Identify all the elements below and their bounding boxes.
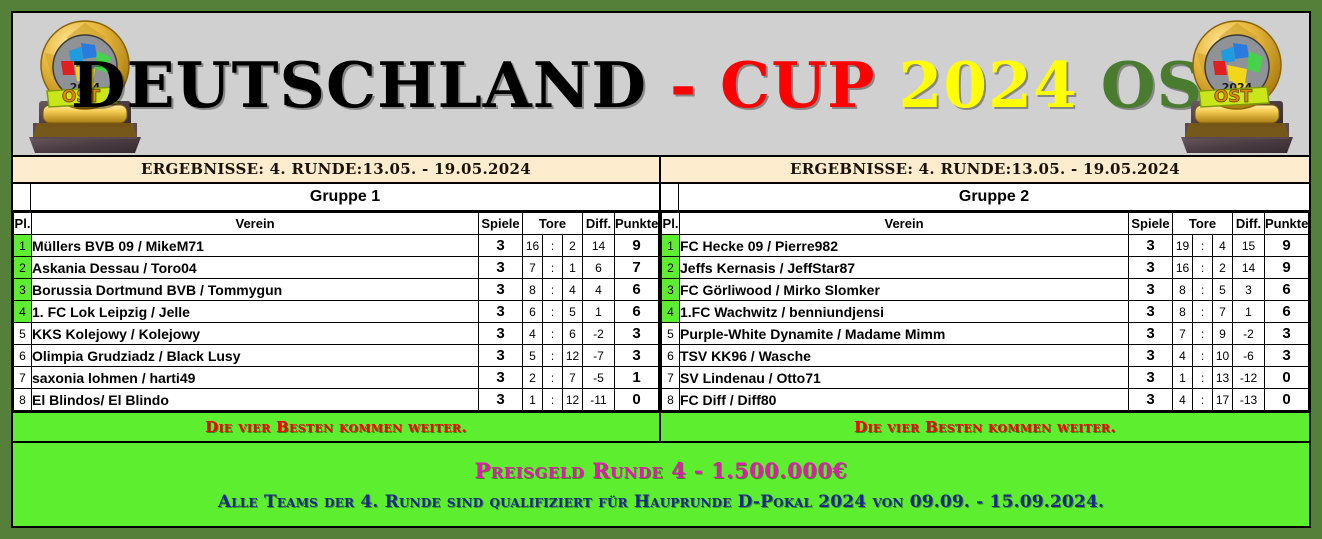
cell-place: 5 bbox=[14, 323, 32, 345]
cell-goals-for: 4 bbox=[1173, 345, 1193, 367]
cell-goals-for: 7 bbox=[1173, 323, 1193, 345]
cell-goals-against: 7 bbox=[1213, 301, 1233, 323]
cell-goals-for: 8 bbox=[523, 279, 543, 301]
cell-goals-separator: : bbox=[1193, 279, 1213, 301]
header-pl: Pl. bbox=[14, 213, 32, 235]
cell-spiele: 3 bbox=[1129, 367, 1173, 389]
cell-diff: -5 bbox=[583, 367, 615, 389]
cell-goals-for: 4 bbox=[523, 323, 543, 345]
cell-punkte: 6 bbox=[1265, 301, 1309, 323]
cell-spiele: 3 bbox=[1129, 345, 1173, 367]
table-row: 2Askania Dessau / Toro0437:167 bbox=[14, 257, 659, 279]
cell-verein: Jeffs Kernasis / JeffStar87 bbox=[680, 257, 1129, 279]
cell-goals-against: 6 bbox=[563, 323, 583, 345]
cell-goals-against: 5 bbox=[1213, 279, 1233, 301]
cell-place: 4 bbox=[14, 301, 32, 323]
header-tore: Tore bbox=[1173, 213, 1233, 235]
cell-goals-for: 19 bbox=[1173, 235, 1193, 257]
table-row: 3Borussia Dortmund BVB / Tommygun38:446 bbox=[14, 279, 659, 301]
cell-place: 5 bbox=[662, 323, 680, 345]
cell-diff: 14 bbox=[1233, 257, 1265, 279]
cell-goals-for: 5 bbox=[523, 345, 543, 367]
cell-place: 6 bbox=[14, 345, 32, 367]
table-row: 8FC Diff / Diff8034:17-130 bbox=[662, 389, 1309, 411]
table-row: 1Müllers BVB 09 / MikeM71316:2149 bbox=[14, 235, 659, 257]
cell-goals-separator: : bbox=[543, 389, 563, 411]
page-frame: 2024 OST DEUTSCHLAND - CUP 2024 OST bbox=[11, 11, 1311, 528]
cell-goals-against: 12 bbox=[563, 389, 583, 411]
cell-goals-separator: : bbox=[1193, 367, 1213, 389]
cell-goals-for: 8 bbox=[1173, 301, 1193, 323]
cell-goals-for: 4 bbox=[1173, 389, 1193, 411]
cell-place: 3 bbox=[14, 279, 32, 301]
cell-diff: -11 bbox=[583, 389, 615, 411]
cell-verein: Olimpia Grudziadz / Black Lusy bbox=[32, 345, 479, 367]
cell-spiele: 3 bbox=[1129, 301, 1173, 323]
cell-spiele: 3 bbox=[479, 235, 523, 257]
cell-place: 3 bbox=[662, 279, 680, 301]
cell-spiele: 3 bbox=[1129, 323, 1173, 345]
cell-diff: -7 bbox=[583, 345, 615, 367]
trophy-logo-right: 2024 OST bbox=[1171, 17, 1303, 155]
prize-money-line: Preisgeld Runde 4 - 1.500.000€ bbox=[474, 457, 847, 485]
header-pl: Pl. bbox=[662, 213, 680, 235]
cell-verein: KKS Kolejowy / Kolejowy bbox=[32, 323, 479, 345]
group-2-title: Gruppe 2 bbox=[679, 184, 1309, 210]
cell-spiele: 3 bbox=[479, 257, 523, 279]
cell-spiele: 3 bbox=[1129, 389, 1173, 411]
table-row: 5Purple-White Dynamite / Madame Mimm37:9… bbox=[662, 323, 1309, 345]
groups-container: ERGEBNISSE: 4. RUNDE:13.05. - 19.05.2024… bbox=[13, 157, 1309, 411]
cell-verein: Müllers BVB 09 / MikeM71 bbox=[32, 235, 479, 257]
standings-table-group-2: Pl. Verein Spiele Tore Diff. Punkte 1FC … bbox=[661, 212, 1309, 411]
cell-goals-separator: : bbox=[1193, 345, 1213, 367]
cell-goals-separator: : bbox=[543, 257, 563, 279]
cell-punkte: 3 bbox=[615, 345, 659, 367]
header-verein: Verein bbox=[680, 213, 1129, 235]
cell-goals-separator: : bbox=[1193, 301, 1213, 323]
cell-verein: FC Diff / Diff80 bbox=[680, 389, 1129, 411]
title-cup: CUP bbox=[720, 48, 875, 122]
cell-goals-against: 1 bbox=[563, 257, 583, 279]
cell-place: 2 bbox=[14, 257, 32, 279]
cell-verein: Purple-White Dynamite / Madame Mimm bbox=[680, 323, 1129, 345]
cell-goals-separator: : bbox=[1193, 257, 1213, 279]
cell-verein: Borussia Dortmund BVB / Tommygun bbox=[32, 279, 479, 301]
cell-goals-separator: : bbox=[543, 345, 563, 367]
cell-goals-separator: : bbox=[543, 235, 563, 257]
header-spiele: Spiele bbox=[479, 213, 523, 235]
cell-goals-for: 8 bbox=[1173, 279, 1193, 301]
cell-goals-against: 10 bbox=[1213, 345, 1233, 367]
table-row: 1FC Hecke 09 / Pierre982319:4159 bbox=[662, 235, 1309, 257]
banner: 2024 OST DEUTSCHLAND - CUP 2024 OST bbox=[13, 13, 1309, 157]
qualification-line: Alle Teams der 4. Runde sind qualifizier… bbox=[218, 491, 1104, 513]
cell-goals-separator: : bbox=[1193, 235, 1213, 257]
cell-place: 7 bbox=[14, 367, 32, 389]
cell-place: 1 bbox=[662, 235, 680, 257]
group-2-name-spacer bbox=[661, 184, 679, 210]
cell-goals-for: 1 bbox=[523, 389, 543, 411]
cell-place: 4 bbox=[662, 301, 680, 323]
cell-punkte: 0 bbox=[1265, 389, 1309, 411]
cell-place: 2 bbox=[662, 257, 680, 279]
cell-diff: -13 bbox=[1233, 389, 1265, 411]
table-row: 8El Blindos/ El Blindo31:12-110 bbox=[14, 389, 659, 411]
cell-place: 1 bbox=[14, 235, 32, 257]
cell-diff: 14 bbox=[583, 235, 615, 257]
header-diff: Diff. bbox=[583, 213, 615, 235]
table-header-row: Pl. Verein Spiele Tore Diff. Punkte bbox=[14, 213, 659, 235]
header-diff: Diff. bbox=[1233, 213, 1265, 235]
header-tore: Tore bbox=[523, 213, 583, 235]
cell-goals-separator: : bbox=[543, 367, 563, 389]
title-deutschland: DEUTSCHLAND bbox=[71, 48, 647, 122]
cell-goals-for: 2 bbox=[523, 367, 543, 389]
cell-punkte: 3 bbox=[1265, 345, 1309, 367]
cell-place: 8 bbox=[14, 389, 32, 411]
cell-goals-against: 2 bbox=[563, 235, 583, 257]
cell-punkte: 3 bbox=[1265, 323, 1309, 345]
title-dash: - bbox=[670, 48, 697, 122]
standings-table-group-1: Pl. Verein Spiele Tore Diff. Punkte 1Mül… bbox=[13, 212, 659, 411]
table-row: 41.FC Wachwitz / benniundjensi38:716 bbox=[662, 301, 1309, 323]
header-punkte: Punkte bbox=[615, 213, 659, 235]
table-row: 2Jeffs Kernasis / JeffStar87316:2149 bbox=[662, 257, 1309, 279]
cell-goals-against: 12 bbox=[563, 345, 583, 367]
cell-place: 6 bbox=[662, 345, 680, 367]
cell-diff: -2 bbox=[1233, 323, 1265, 345]
results-header-group-1: ERGEBNISSE: 4. RUNDE:13.05. - 19.05.2024 bbox=[13, 157, 659, 184]
cell-verein: SV Lindenau / Otto71 bbox=[680, 367, 1129, 389]
table-row: 7saxonia lohmen / harti4932:7-51 bbox=[14, 367, 659, 389]
cell-verein: FC Görliwood / Mirko Slomker bbox=[680, 279, 1129, 301]
advance-note-row: Die vier Besten kommen weiter. Die vier … bbox=[13, 411, 1309, 443]
cell-goals-against: 5 bbox=[563, 301, 583, 323]
cell-diff: -2 bbox=[583, 323, 615, 345]
header-spiele: Spiele bbox=[1129, 213, 1173, 235]
cell-diff: -6 bbox=[1233, 345, 1265, 367]
group-2-name-row: Gruppe 2 bbox=[661, 184, 1309, 212]
cell-punkte: 1 bbox=[615, 367, 659, 389]
cell-spiele: 3 bbox=[1129, 257, 1173, 279]
cell-diff: -12 bbox=[1233, 367, 1265, 389]
title-year: 2024 bbox=[898, 48, 1077, 122]
cell-spiele: 3 bbox=[1129, 279, 1173, 301]
cell-punkte: 9 bbox=[615, 235, 659, 257]
cell-diff: 4 bbox=[583, 279, 615, 301]
header-verein: Verein bbox=[32, 213, 479, 235]
group-1-title: Gruppe 1 bbox=[31, 184, 659, 210]
table-row: 6Olimpia Grudziadz / Black Lusy35:12-73 bbox=[14, 345, 659, 367]
cell-punkte: 0 bbox=[615, 389, 659, 411]
header-punkte: Punkte bbox=[1265, 213, 1309, 235]
advance-note-group-1: Die vier Besten kommen weiter. bbox=[13, 413, 661, 441]
cell-diff: 6 bbox=[583, 257, 615, 279]
cell-punkte: 6 bbox=[1265, 279, 1309, 301]
page-title: DEUTSCHLAND - CUP 2024 OST bbox=[13, 39, 1309, 131]
cell-verein: 1. FC Lok Leipzig / Jelle bbox=[32, 301, 479, 323]
cell-diff: 1 bbox=[583, 301, 615, 323]
advance-note-group-2: Die vier Besten kommen weiter. bbox=[661, 413, 1309, 441]
cell-punkte: 6 bbox=[615, 301, 659, 323]
group-1-name-spacer bbox=[13, 184, 31, 210]
cell-spiele: 3 bbox=[1129, 235, 1173, 257]
table-row: 5KKS Kolejowy / Kolejowy34:6-23 bbox=[14, 323, 659, 345]
cell-goals-against: 4 bbox=[563, 279, 583, 301]
table-row: 41. FC Lok Leipzig / Jelle36:516 bbox=[14, 301, 659, 323]
cell-goals-for: 16 bbox=[1173, 257, 1193, 279]
cell-goals-against: 4 bbox=[1213, 235, 1233, 257]
cell-goals-against: 7 bbox=[563, 367, 583, 389]
cell-goals-separator: : bbox=[1193, 389, 1213, 411]
cell-diff: 15 bbox=[1233, 235, 1265, 257]
cell-spiele: 3 bbox=[479, 389, 523, 411]
cell-spiele: 3 bbox=[479, 323, 523, 345]
results-header-group-2: ERGEBNISSE: 4. RUNDE:13.05. - 19.05.2024 bbox=[661, 157, 1309, 184]
cell-verein: El Blindos/ El Blindo bbox=[32, 389, 479, 411]
cell-punkte: 3 bbox=[615, 323, 659, 345]
cell-spiele: 3 bbox=[479, 279, 523, 301]
group-2: ERGEBNISSE: 4. RUNDE:13.05. - 19.05.2024… bbox=[661, 157, 1309, 411]
table-row: 3FC Görliwood / Mirko Slomker38:536 bbox=[662, 279, 1309, 301]
standings-body-group-1: 1Müllers BVB 09 / MikeM71316:21492Askani… bbox=[14, 235, 659, 411]
cell-spiele: 3 bbox=[479, 301, 523, 323]
cell-punkte: 7 bbox=[615, 257, 659, 279]
cell-punkte: 9 bbox=[1265, 235, 1309, 257]
footer-prize-box: Preisgeld Runde 4 - 1.500.000€ Alle Team… bbox=[13, 443, 1309, 526]
cell-verein: Askania Dessau / Toro04 bbox=[32, 257, 479, 279]
cell-goals-for: 7 bbox=[523, 257, 543, 279]
cell-goals-separator: : bbox=[543, 301, 563, 323]
cell-goals-against: 2 bbox=[1213, 257, 1233, 279]
cell-verein: saxonia lohmen / harti49 bbox=[32, 367, 479, 389]
cell-spiele: 3 bbox=[479, 345, 523, 367]
group-1-name-row: Gruppe 1 bbox=[13, 184, 659, 212]
cell-goals-for: 6 bbox=[523, 301, 543, 323]
table-header-row: Pl. Verein Spiele Tore Diff. Punkte bbox=[662, 213, 1309, 235]
cell-punkte: 6 bbox=[615, 279, 659, 301]
cell-goals-for: 16 bbox=[523, 235, 543, 257]
cell-place: 8 bbox=[662, 389, 680, 411]
cell-place: 7 bbox=[662, 367, 680, 389]
cell-verein: FC Hecke 09 / Pierre982 bbox=[680, 235, 1129, 257]
cell-diff: 1 bbox=[1233, 301, 1265, 323]
trophy-plaque-label: OST bbox=[1214, 87, 1253, 107]
group-1: ERGEBNISSE: 4. RUNDE:13.05. - 19.05.2024… bbox=[13, 157, 661, 411]
cell-goals-separator: : bbox=[1193, 323, 1213, 345]
cell-goals-against: 17 bbox=[1213, 389, 1233, 411]
cell-diff: 3 bbox=[1233, 279, 1265, 301]
cell-goals-separator: : bbox=[543, 323, 563, 345]
cell-goals-separator: : bbox=[543, 279, 563, 301]
cell-verein: TSV KK96 / Wasche bbox=[680, 345, 1129, 367]
standings-body-group-2: 1FC Hecke 09 / Pierre982319:41592Jeffs K… bbox=[662, 235, 1309, 411]
cell-goals-for: 1 bbox=[1173, 367, 1193, 389]
table-row: 7SV Lindenau / Otto7131:13-120 bbox=[662, 367, 1309, 389]
table-row: 6TSV KK96 / Wasche34:10-63 bbox=[662, 345, 1309, 367]
cell-spiele: 3 bbox=[479, 367, 523, 389]
cell-verein: 1.FC Wachwitz / benniundjensi bbox=[680, 301, 1129, 323]
cell-goals-against: 9 bbox=[1213, 323, 1233, 345]
cell-punkte: 9 bbox=[1265, 257, 1309, 279]
cell-punkte: 0 bbox=[1265, 367, 1309, 389]
cell-goals-against: 13 bbox=[1213, 367, 1233, 389]
